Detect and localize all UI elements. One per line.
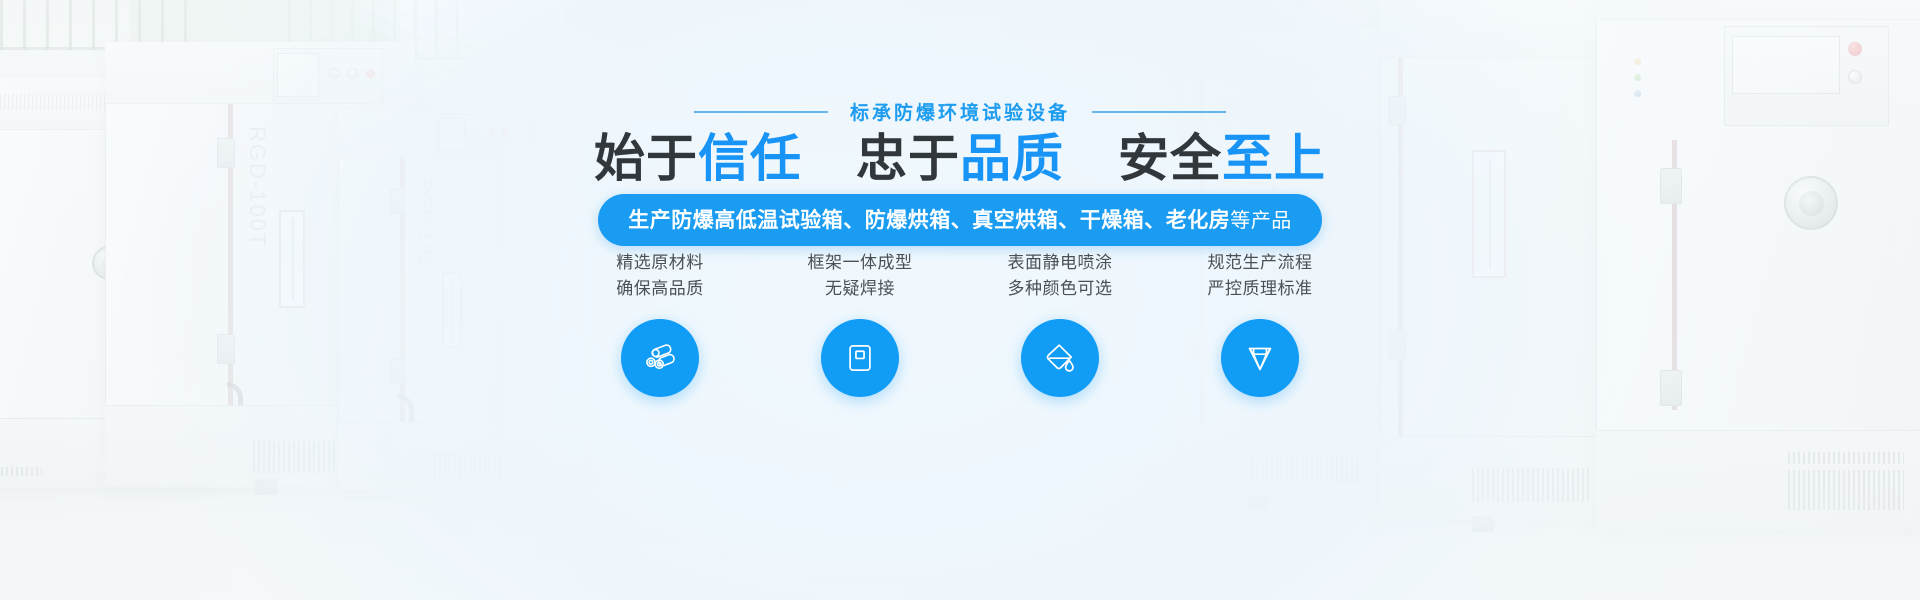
subtitle-pill-main: 生产防爆高低温试验箱、防爆烘箱、真空烘箱、干燥箱、老化房 [628, 204, 1230, 234]
feature-1-text: 精选原材料 确保高品质 [616, 250, 704, 303]
feature-3-line1: 表面静电喷涂 [1008, 250, 1113, 276]
headline-phrase-1-accent: 信任 [698, 130, 802, 187]
feature-3-text: 表面静电喷涂 多种颜色可选 [1008, 250, 1113, 303]
headline-phrase-3-accent: 至上 [1222, 130, 1326, 187]
stacked-pipes-icon [641, 339, 679, 377]
hero-banner: RGD-100T RGD-100 [0, 0, 1920, 600]
feature-item-4: 规范生产流程 严控质理标准 [1185, 250, 1335, 397]
headline-phrase-2-accent: 品质 [960, 130, 1064, 187]
eyebrow-text: 标承防爆环境试验设备 [850, 98, 1070, 125]
feature-item-3: 表面静电喷涂 多种颜色可选 [985, 250, 1135, 397]
feature-item-1: 精选原材料 确保高品质 [585, 250, 735, 397]
eyebrow-rule-right [1092, 111, 1226, 113]
subtitle-pill-suffix: 等产品 [1230, 204, 1292, 233]
headline-phrase-3-plain: 安全 [1118, 130, 1222, 187]
feature-4-circle[interactable] [1221, 319, 1299, 397]
subtitle-pill: 生产防爆高低温试验箱、防爆烘箱、真空烘箱、干燥箱、老化房 等产品 [598, 194, 1322, 246]
feature-item-2: 框架一体成型 无疑焊接 [785, 250, 935, 397]
feature-1-line2: 确保高品质 [616, 276, 704, 302]
feature-2-circle[interactable] [821, 319, 899, 397]
headline-phrase-1: 始于信任 [594, 128, 802, 190]
headline-phrase-1-plain: 始于 [594, 130, 698, 187]
feature-4-line1: 规范生产流程 [1208, 250, 1313, 276]
feature-2-text: 框架一体成型 无疑焊接 [808, 250, 913, 303]
feature-3-circle[interactable] [1021, 319, 1099, 397]
feature-4-line2: 严控质理标准 [1208, 276, 1313, 302]
frame-cabinet-icon [842, 340, 878, 376]
headline-phrase-3: 安全至上 [1118, 128, 1326, 190]
feature-2-line2: 无疑焊接 [808, 276, 913, 302]
headline-row: 始于信任 忠于品质 安全至上 [0, 128, 1920, 190]
headline-phrase-2-plain: 忠于 [856, 130, 960, 187]
feature-4-text: 规范生产流程 严控质理标准 [1208, 250, 1313, 303]
eyebrow-row: 标承防爆环境试验设备 [0, 98, 1920, 125]
paint-bucket-icon [1041, 339, 1079, 377]
feature-1-circle[interactable] [621, 319, 699, 397]
feature-1-line1: 精选原材料 [616, 250, 704, 276]
feature-2-line1: 框架一体成型 [808, 250, 913, 276]
diamond-icon [1241, 339, 1279, 377]
subtitle-pill-wrap: 生产防爆高低温试验箱、防爆烘箱、真空烘箱、干燥箱、老化房 等产品 [0, 194, 1920, 246]
feature-row: 精选原材料 确保高品质 [0, 250, 1920, 397]
feature-3-line2: 多种颜色可选 [1008, 276, 1113, 302]
eyebrow-rule-left [694, 111, 828, 113]
banner-content: 标承防爆环境试验设备 始于信任 忠于品质 安全至上 生产防爆高低温试验箱、防爆烘… [0, 0, 1920, 600]
headline-phrase-2: 忠于品质 [856, 128, 1064, 190]
